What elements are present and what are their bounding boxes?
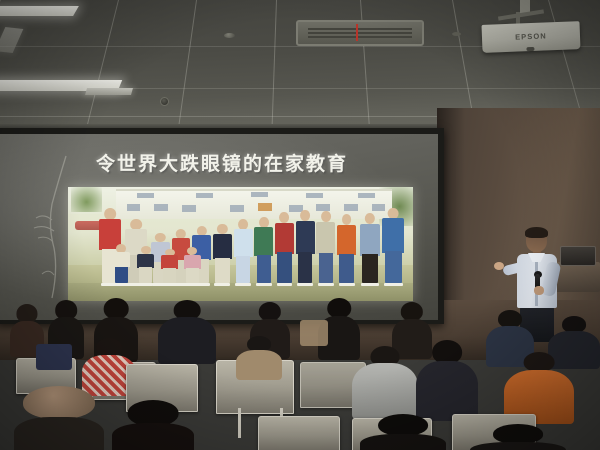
attendee-tan-coat (236, 336, 282, 378)
slide-photo (68, 187, 413, 301)
ceiling-light-4 (0, 27, 23, 53)
smoke-detector-icon (224, 33, 235, 38)
backpack (36, 344, 72, 370)
photo-child (137, 246, 154, 282)
projector: EPSON (481, 21, 580, 53)
photo-person (316, 211, 335, 283)
projection-screen: 令世界大跌眼镜的在家教育 (0, 134, 438, 320)
attendee-orange-jacket (504, 352, 574, 420)
photo-child (113, 244, 130, 283)
vent-red-mark (356, 24, 358, 41)
photo-person (296, 210, 315, 283)
photo-person (382, 208, 404, 283)
classroom-presentation-scene: EPSON 令世界大跌眼镜的在家教育 (0, 0, 600, 450)
photo-person (213, 224, 232, 283)
photo-tree-left (71, 187, 102, 212)
attendee (470, 424, 566, 450)
photo-person (360, 213, 381, 283)
attendee (360, 414, 446, 450)
chair (258, 416, 340, 450)
projector-lens-icon (526, 47, 534, 51)
photo-person (234, 219, 253, 283)
photo-person (254, 217, 273, 283)
ceiling-light-3 (85, 88, 133, 95)
chair-leg (238, 408, 241, 438)
audience-area (0, 296, 600, 450)
sprinkler-icon (160, 97, 169, 106)
photo-child (161, 249, 178, 283)
attendee-bald-man (14, 386, 104, 450)
ceiling-light-1 (0, 6, 79, 16)
presenter-right-hand (534, 286, 544, 295)
tan-bag (300, 320, 328, 346)
ac-vent-icon (296, 20, 424, 46)
slide-title: 令世界大跌眼镜的在家教育 (96, 149, 416, 176)
presenter-hair (525, 227, 548, 238)
photo-child (184, 247, 201, 282)
photo-person (275, 212, 294, 283)
ceiling: EPSON (0, 0, 600, 124)
attendee (416, 340, 478, 416)
photo-person (337, 214, 356, 282)
projector-brand-label: EPSON (482, 30, 580, 43)
presenter-left-hand (494, 262, 504, 270)
attendee-dark-suit (158, 300, 216, 362)
attendee-grey-hoodie (352, 346, 418, 416)
ceiling-speaker-icon (452, 32, 461, 36)
attendee (112, 400, 194, 450)
